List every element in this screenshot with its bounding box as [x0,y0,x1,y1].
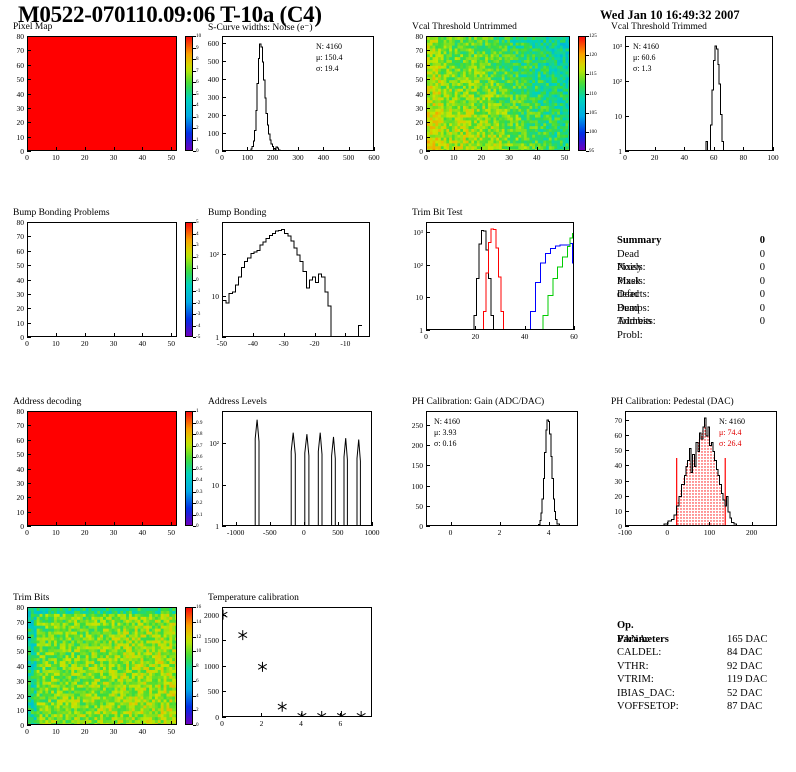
row-value: 0 [737,302,765,316]
chart-panel-address-levels: Address Levels-1000-5000500100011010² [198,398,408,543]
x-tick-mark [454,147,455,151]
stat-N: N: 4160 [633,41,659,52]
row-value: 87 DAC [727,700,787,714]
x-tick-mark [171,522,172,526]
colorbar [185,607,193,725]
y-tick-mark [27,454,31,455]
chart-panel-trim-bits: Trim Bits0102030405001020304050607080024… [3,594,213,742]
x-tick-label: 400 [311,153,335,162]
row-value: 119 DAC [727,673,787,687]
stat-mu: μ: 74.4 [719,427,745,438]
y-tick-mark [625,116,629,117]
y-tick-label: 1 [198,333,219,342]
x-tick-label: 50 [552,153,576,162]
y-tick-mark [625,46,629,47]
x-tick-mark [298,147,299,151]
x-tick-label: 10 [44,153,68,162]
y-tick-mark [27,308,31,309]
y-tick-mark [27,512,31,513]
x-tick-mark [142,721,143,725]
y-tick-label: 10 [601,507,622,516]
x-tick-mark [537,147,538,151]
x-tick-mark [273,147,274,151]
y-tick-label: 30 [3,104,24,113]
x-tick-mark [374,147,375,151]
y-tick-mark [27,94,31,95]
chart-panel-ph-calibration-pedestal: PH Calibration: Pedestal (DAC)-100010020… [601,398,796,543]
y-tick-label: 40 [402,90,423,99]
chart-title: S-Curve widths: Noise (e⁻) [208,22,313,33]
x-tick-mark [684,147,685,151]
y-tick-mark [625,526,629,527]
y-tick-mark [27,666,31,667]
x-tick-label: 0 [655,528,679,537]
y-tick-label: 50 [3,450,24,459]
colorbar-tick: 100 [589,129,597,135]
y-tick-mark [426,79,430,80]
y-tick-label: 200 [402,441,423,450]
x-tick-label: 0 [439,528,463,537]
y-tick-label: 30 [3,290,24,299]
x-tick-mark [261,713,262,717]
y-tick-label: 0 [402,522,423,531]
colorbar-tick: 125 [589,33,597,39]
y-tick-mark [27,137,31,138]
y-tick-label: 10 [198,481,219,490]
row-value: 92 DAC [727,660,787,674]
y-tick-mark [625,435,629,436]
x-tick-label: -1000 [224,528,248,537]
chart-title: Address decoding [13,397,81,407]
y-tick-label: 0 [3,721,24,730]
chart-title: Vcal Threshold Untrimmed [412,22,517,32]
y-tick-mark [27,651,31,652]
x-tick-mark [304,522,305,526]
y-tick-label: 50 [3,261,24,270]
y-tick-label: 1500 [198,636,219,645]
y-tick-mark [27,280,31,281]
x-tick-label: 100 [697,528,721,537]
x-tick-mark [655,147,656,151]
x-tick-label: 30 [102,339,126,348]
y-tick-label: 20 [402,118,423,127]
y-tick-label: 400 [198,75,219,84]
y-tick-mark [27,622,31,623]
y-tick-mark [222,615,226,616]
y-tick-label: 20 [601,492,622,501]
colorbar-tick: 115 [589,71,597,77]
y-tick-label: 0 [198,713,219,722]
row-value: 0 [737,261,765,275]
x-tick-mark [481,147,482,151]
y-tick-mark [27,65,31,66]
y-tick-label: 50 [402,75,423,84]
x-tick-label: 300 [286,153,310,162]
y-tick-mark [27,294,31,295]
y-tick-mark [27,50,31,51]
stats-box: N: 4160μ: 150.4σ: 19.4 [316,41,343,74]
x-tick-label: 40 [130,339,154,348]
y-tick-label: 10 [198,292,219,301]
y-tick-mark [27,607,31,608]
x-tick-mark [56,721,57,725]
plot-area [426,36,570,151]
x-tick-mark [171,147,172,151]
x-tick-label: 40 [130,153,154,162]
row-label: CALDEL: [617,646,661,660]
y-tick-mark [222,97,226,98]
y-tick-label: 50 [3,75,24,84]
y-tick-label: 70 [3,46,24,55]
row-value: 52 DAC [727,687,787,701]
y-tick-mark [27,323,31,324]
y-tick-mark [27,425,31,426]
x-tick-mark [114,333,115,337]
x-tick-label: 50 [159,727,183,736]
y-tick-mark [426,486,430,487]
y-tick-mark [426,151,430,152]
y-tick-label: 40 [601,461,622,470]
chart-title: Bump Bonding Problems [13,208,110,218]
chart-panel-vcal-threshold-trimmed: Vcal Threshold Trimmed02040608010011010²… [601,23,796,168]
y-tick-label: 60 [601,431,622,440]
y-tick-mark [222,151,226,152]
chart-title: PH Calibration: Pedestal (DAC) [611,397,734,407]
x-tick-label: 50 [159,528,183,537]
y-tick-label: 50 [3,647,24,656]
plot-area [27,411,177,526]
y-tick-label: 10² [198,439,219,448]
x-tick-mark [743,147,744,151]
y-tick-mark [27,440,31,441]
x-tick-label: -500 [258,528,282,537]
x-tick-mark [142,333,143,337]
y-tick-label: 10 [3,319,24,328]
y-tick-label: 10² [198,250,219,259]
y-tick-label: 10² [601,77,622,86]
x-tick-mark [85,147,86,151]
x-tick-label: 20 [643,153,667,162]
y-tick-mark [625,450,629,451]
x-tick-mark [349,147,350,151]
x-tick-mark [114,721,115,725]
y-tick-mark [27,122,31,123]
x-tick-label: 500 [326,528,350,537]
row-value: 165 DAC [727,633,787,647]
row-value: 84 DAC [727,646,787,660]
y-tick-mark [27,497,31,498]
x-tick-label: 50 [159,339,183,348]
y-tick-mark [426,122,430,123]
plot-area [27,222,177,337]
y-tick-label: 0 [3,333,24,342]
y-tick-label: 0 [3,522,24,531]
x-tick-label: 100 [761,153,785,162]
y-tick-label: 10 [402,133,423,142]
y-tick-label: 1 [402,326,423,335]
x-tick-label: -20 [303,339,327,348]
x-tick-label: 30 [497,153,521,162]
y-tick-mark [27,725,31,726]
x-tick-mark [549,522,550,526]
chart-title: Address Levels [208,397,267,407]
x-tick-mark [171,721,172,725]
x-tick-mark [247,147,248,151]
y-tick-label: 20 [3,118,24,127]
y-tick-label: 300 [198,93,219,102]
y-tick-label: 40 [3,90,24,99]
y-tick-label: 100 [198,129,219,138]
y-tick-label: 60 [3,247,24,256]
x-tick-label: 20 [73,153,97,162]
colorbar [185,222,193,337]
chart-panel-trim-bit-test: Trim Bit Test020406011010²10³ [402,209,610,347]
y-tick-mark [426,506,430,507]
chart-title: Trim Bit Test [412,208,463,218]
plot-area [27,607,177,725]
plot-area [222,607,372,717]
y-tick-label: 2000 [198,611,219,620]
y-tick-label: 0 [601,522,622,531]
x-tick-mark [773,147,774,151]
y-tick-label: 10 [3,133,24,142]
colorbar-tick: 105 [589,110,597,116]
y-tick-mark [426,526,430,527]
colorbar-tick: 110 [589,91,597,97]
x-tick-label: 10 [44,339,68,348]
x-tick-label: 40 [525,153,549,162]
y-tick-label: 80 [3,603,24,612]
y-tick-label: 60 [402,61,423,70]
x-tick-label: 10 [442,153,466,162]
row-label: IBIAS_DAC: [617,687,675,701]
row-label: VTHR: [617,660,649,674]
y-tick-label: 10³ [601,42,622,51]
row-label: VOFFSETOP: [617,700,679,714]
stats-box: N: 4160μ: 74.4σ: 26.4 [719,416,745,449]
summary-heading-value: 0 [737,234,765,248]
x-tick-mark [323,147,324,151]
y-tick-label: 50 [402,502,423,511]
y-tick-mark [222,254,226,255]
y-tick-mark [222,337,226,338]
date-stamp: Wed Jan 10 16:49:32 2007 [600,8,740,23]
chart-title: PH Calibration: Gain (ADC/DAC) [412,397,544,407]
y-tick-label: 10 [3,508,24,517]
y-tick-mark [222,691,226,692]
x-tick-mark [142,522,143,526]
y-tick-mark [27,108,31,109]
row-value: 0 [737,315,765,329]
y-tick-label: 40 [3,465,24,474]
y-tick-mark [222,640,226,641]
x-tick-label: 200 [261,153,285,162]
x-tick-label: 40 [672,153,696,162]
x-tick-label: 4 [289,719,313,728]
y-tick-label: 40 [3,276,24,285]
y-tick-mark [625,511,629,512]
plot-area [426,222,574,330]
y-tick-label: 60 [3,61,24,70]
stat-N: N: 4160 [434,416,460,427]
y-tick-label: 0 [402,147,423,156]
stat-N: N: 4160 [316,41,343,52]
y-tick-label: 600 [198,39,219,48]
y-tick-mark [426,297,430,298]
x-tick-mark [85,333,86,337]
x-tick-mark [56,522,57,526]
y-tick-label: 50 [601,446,622,455]
row-label: Address Probl: [617,315,651,342]
plot-area [222,222,370,337]
y-tick-label: 1 [601,147,622,156]
y-tick-label: 70 [3,232,24,241]
y-tick-label: 70 [3,618,24,627]
chart-panel-ph-calibration-gain: PH Calibration: Gain (ADC/DAC)0240501001… [402,398,614,543]
y-tick-mark [27,411,31,412]
x-tick-label: 2 [488,528,512,537]
stat-mu: μ: 60.6 [633,52,659,63]
y-tick-mark [426,330,430,331]
x-tick-mark [114,147,115,151]
x-tick-label: 60 [702,153,726,162]
y-tick-mark [426,465,430,466]
y-tick-mark [426,65,430,66]
stat-sigma: σ: 0.16 [434,438,460,449]
chart-panel-vcal-threshold-untrimmed: Vcal Threshold Untrimmed0102030405001020… [402,23,606,168]
colorbar [578,36,586,151]
colorbar-tick: 120 [589,52,597,58]
stat-mu: μ: 150.4 [316,52,343,63]
x-tick-label: 100 [235,153,259,162]
x-tick-mark [171,333,172,337]
y-tick-label: 10³ [402,228,423,237]
y-tick-mark [625,481,629,482]
y-tick-label: 150 [402,461,423,470]
x-tick-label: 40 [513,332,537,341]
y-tick-mark [27,469,31,470]
x-tick-mark [340,713,341,717]
y-tick-label: 80 [3,407,24,416]
y-tick-mark [27,696,31,697]
x-tick-mark [709,522,710,526]
x-tick-mark [525,326,526,330]
x-tick-label: -10 [333,339,357,348]
x-tick-mark [114,522,115,526]
y-tick-label: 0 [3,147,24,156]
x-tick-label: -40 [241,339,265,348]
y-tick-mark [222,717,226,718]
plot-area [222,36,374,151]
plot-area [27,36,177,151]
y-tick-label: 20 [3,304,24,313]
x-tick-mark [85,721,86,725]
y-tick-mark [222,61,226,62]
x-tick-label: 30 [102,153,126,162]
y-tick-label: 500 [198,687,219,696]
chart-panel-temperature-calibration: Temperature calibration02460500100015002… [198,594,408,734]
x-tick-mark [372,522,373,526]
y-tick-label: 30 [3,479,24,488]
x-tick-mark [142,147,143,151]
y-tick-label: 1 [198,522,219,531]
y-tick-mark [222,443,226,444]
plot-area [625,411,777,526]
stat-sigma: σ: 26.4 [719,438,745,449]
x-tick-label: 60 [562,332,586,341]
x-tick-label: 20 [469,153,493,162]
x-tick-label: 20 [73,339,97,348]
x-tick-label: 20 [73,727,97,736]
y-tick-mark [426,36,430,37]
stats-box: N: 4160μ: 3.93σ: 0.16 [434,416,460,449]
colorbar [185,411,193,526]
x-tick-label: 30 [102,727,126,736]
y-tick-mark [27,79,31,80]
y-tick-mark [27,526,31,527]
x-tick-mark [338,522,339,526]
x-tick-mark [714,147,715,151]
y-tick-mark [426,232,430,233]
x-tick-label: 600 [362,153,386,162]
y-tick-label: 20 [3,493,24,502]
summary-heading: Summary [617,234,661,248]
y-tick-mark [625,151,629,152]
y-tick-label: 10² [402,261,423,270]
x-tick-mark [574,326,575,330]
y-tick-mark [27,637,31,638]
y-tick-mark [27,681,31,682]
chart-title: Pixel Map [13,22,52,32]
y-tick-mark [222,79,226,80]
y-tick-label: 1000 [198,662,219,671]
chart-panel-scurve-widths: S-Curve widths: Noise (e⁻)01002003004005… [198,23,410,168]
x-tick-mark [500,522,501,526]
x-tick-label: 40 [130,727,154,736]
stat-N: N: 4160 [719,416,745,427]
chart-panel-bump-bonding-problems: Bump Bonding Problems0102030405001020304… [3,209,213,354]
y-tick-label: 30 [601,477,622,486]
row-value: 0 [737,288,765,302]
x-tick-mark [301,713,302,717]
y-tick-mark [625,81,629,82]
x-tick-mark [284,333,285,337]
y-tick-mark [426,108,430,109]
y-tick-label: 70 [3,421,24,430]
y-tick-label: 70 [402,46,423,55]
row-value: 0 [737,275,765,289]
y-tick-label: 40 [3,662,24,671]
chart-title: Vcal Threshold Trimmed [611,22,707,32]
y-tick-mark [222,43,226,44]
stats-box: N: 4160μ: 60.6σ: 1.3 [633,41,659,74]
chart-title: Temperature calibration [208,593,299,603]
chart-title: Bump Bonding [208,208,266,218]
y-tick-mark [426,445,430,446]
y-tick-mark [27,222,31,223]
y-tick-mark [426,137,430,138]
y-tick-mark [27,151,31,152]
x-tick-label: 0 [292,528,316,537]
y-tick-mark [27,337,31,338]
x-tick-label: 10 [44,727,68,736]
colorbar-tick: 95 [589,148,594,154]
y-tick-mark [222,666,226,667]
x-tick-mark [752,522,753,526]
x-tick-label: 4 [537,528,561,537]
x-tick-mark [56,147,57,151]
colorbar [185,36,193,151]
